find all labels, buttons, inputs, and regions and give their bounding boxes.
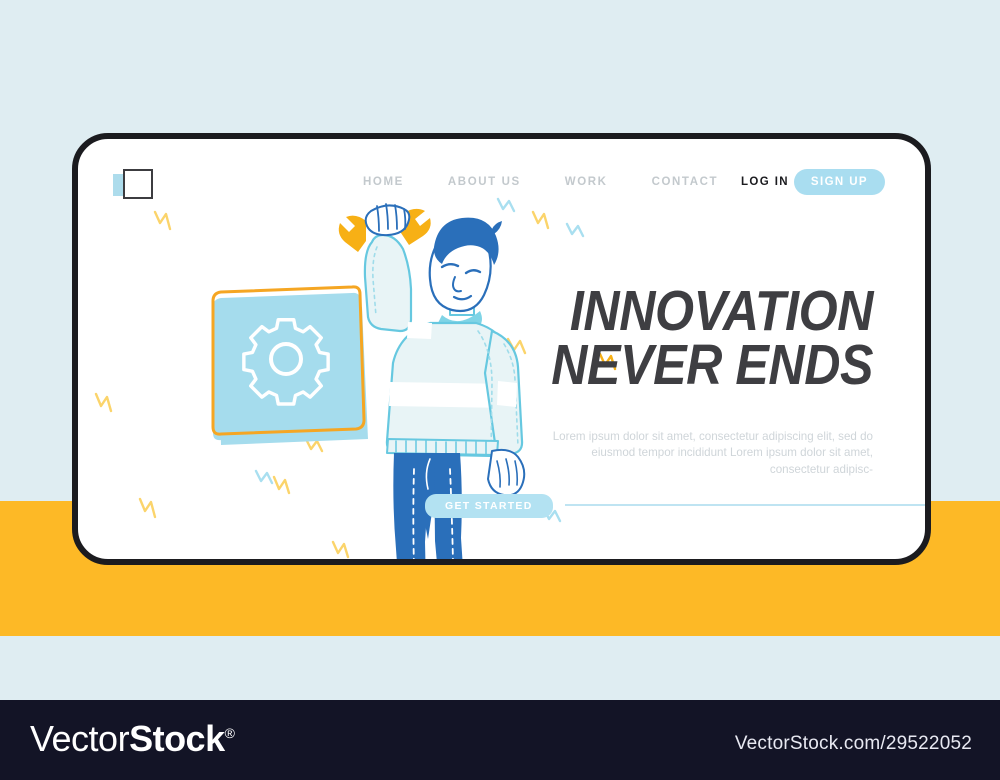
vectorstock-logo-thin: Vector — [30, 718, 129, 759]
main-navigation: HOME ABOUT US WORK CONTACT — [363, 173, 718, 191]
nav-item-home[interactable]: HOME — [363, 173, 404, 191]
vectorstock-logo-bold: Stock — [129, 718, 225, 759]
cta-row: GET STARTED — [425, 494, 925, 516]
nav-item-about-us[interactable]: ABOUT US — [448, 173, 521, 191]
brand-logo[interactable] — [113, 169, 155, 199]
headline-line-2: NEVER ENDS — [459, 338, 873, 392]
watermark-bar: VectorStock® VectorStock.com/29522052 — [0, 700, 1000, 780]
nav-item-work[interactable]: WORK — [565, 173, 608, 191]
cta-rule — [565, 504, 925, 506]
registered-trademark-icon: ® — [225, 725, 235, 741]
gear-card-graphic — [213, 287, 368, 445]
sign-up-button[interactable]: SIGN UP — [794, 169, 885, 195]
vectorstock-url: VectorStock.com/29522052 — [735, 733, 972, 755]
wrench-icon — [339, 209, 431, 252]
log-in-link[interactable]: LOG IN — [741, 176, 789, 188]
vectorstock-logo: VectorStock® — [30, 718, 234, 760]
background-bottom-band — [0, 636, 1000, 700]
hero-paragraph: Lorem ipsum dolor sit amet, consectetur … — [543, 429, 873, 479]
nav-item-contact[interactable]: CONTACT — [652, 173, 719, 191]
gear-icon — [244, 320, 328, 404]
landing-page-card: HOME ABOUT US WORK CONTACT LOG IN SIGN U… — [72, 133, 931, 565]
screenshot-stage: HOME ABOUT US WORK CONTACT LOG IN SIGN U… — [0, 0, 1000, 780]
get-started-button[interactable]: GET STARTED — [425, 494, 553, 518]
page-title: INNOVATION NEVER ENDS — [459, 284, 873, 392]
logo-outline-square — [123, 169, 153, 199]
